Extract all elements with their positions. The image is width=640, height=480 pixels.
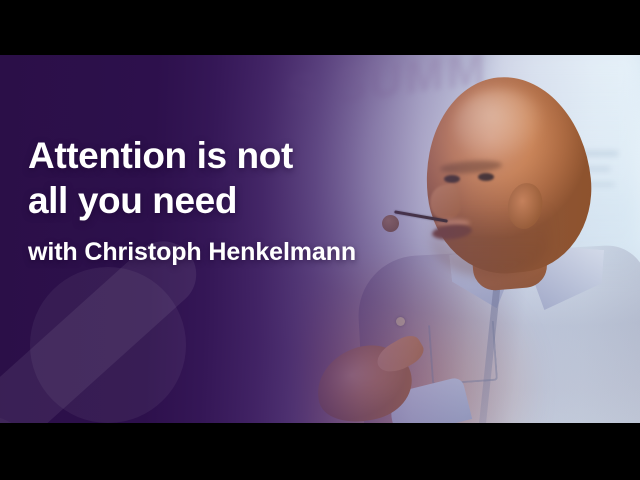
speaker-subtitle: with Christoph Henkelmann	[28, 237, 356, 268]
video-thumbnail-frame: S SUMM	[0, 0, 640, 480]
letterbox-top	[0, 0, 640, 55]
letterbox-bottom	[0, 423, 640, 480]
title-line-1: Attention is not	[28, 133, 356, 178]
title-block: Attention is not all you need with Chris…	[28, 133, 356, 268]
video-stage: S SUMM	[0, 55, 640, 423]
title-line-2: all you need	[28, 178, 356, 223]
